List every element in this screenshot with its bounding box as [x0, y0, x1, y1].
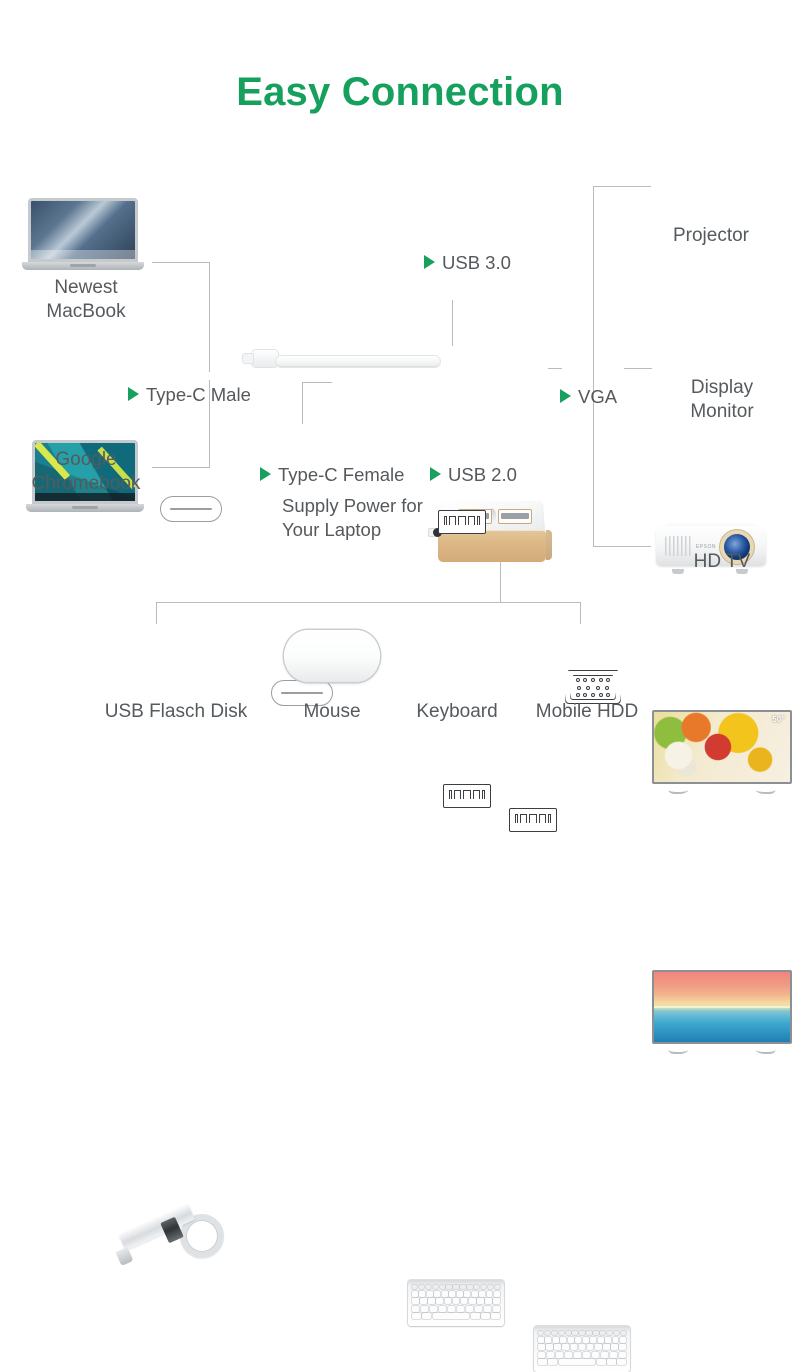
- line-bottom-drop-hdd: [580, 602, 581, 624]
- monitor-size-badge: 50": [772, 715, 785, 724]
- line-macbook-h: [152, 262, 210, 263]
- type-c-male-tag: Type-C Male: [128, 384, 251, 406]
- hub-cable: [276, 356, 440, 367]
- keyboard-label: Keyboard: [398, 700, 516, 724]
- tv-panel: [652, 970, 792, 1044]
- bullet-triangle-icon: [128, 387, 139, 401]
- line-usb30-drop: [452, 300, 453, 346]
- line-hub-to-vga: [548, 368, 562, 369]
- monitor-panel: 50": [652, 710, 792, 784]
- type-c-female-tag: Type-C Female: [260, 464, 404, 486]
- usb20-label: USB 2.0: [448, 464, 517, 486]
- projector-label: Projector: [636, 224, 786, 248]
- vga-label: VGA: [578, 386, 617, 408]
- mobile-hdd-device-icon: [534, 1326, 630, 1372]
- mouse-device-icon: [284, 630, 380, 682]
- chromebook-base: [26, 504, 144, 512]
- usb-port-icon: [443, 784, 491, 808]
- line-hdtv-h: [593, 546, 651, 547]
- usb-flash-disk-label: USB Flasch Disk: [88, 700, 264, 724]
- line-projector-h: [593, 186, 651, 187]
- usb30-tag: USB 3.0: [424, 252, 511, 274]
- usb-port-icon: [509, 808, 557, 832]
- line-left-bus-top: [209, 262, 210, 372]
- line-bottom-drop-flash: [156, 602, 157, 624]
- line-monitor-h: [624, 368, 652, 369]
- type-c-female-note: Supply Power for Your Laptop: [282, 494, 482, 542]
- page-title: Easy Connection: [0, 70, 800, 115]
- bullet-triangle-icon: [430, 467, 441, 481]
- infographic-canvas: Easy Connection Newest MacBook Google Ch…: [0, 0, 800, 800]
- chromebook-label: Google Chromebook: [2, 448, 170, 496]
- flash-connector: [116, 1247, 134, 1266]
- vga-port-icon: [565, 670, 621, 704]
- macbook-screen: [28, 198, 138, 262]
- usb30-label: USB 3.0: [442, 252, 511, 274]
- monitor-device-icon: 50": [652, 710, 792, 794]
- vga-tag: VGA: [560, 386, 617, 408]
- type-c-connector-icon: [160, 496, 222, 522]
- usb-flash-drive-icon: [118, 1210, 230, 1272]
- line-right-bus: [593, 186, 594, 546]
- monitor-label: Display Monitor: [644, 376, 800, 424]
- bullet-triangle-icon: [260, 467, 271, 481]
- cable-plug-typec: [252, 350, 278, 367]
- hub-side: [546, 530, 552, 560]
- hub-usb-port-2: [498, 509, 532, 524]
- bullet-triangle-icon: [560, 389, 571, 403]
- macbook-laptop-icon: [22, 198, 144, 270]
- monitor-stand: [652, 784, 792, 794]
- tv-device-icon: [652, 970, 792, 1054]
- macbook-label: Newest MacBook: [6, 276, 166, 324]
- mobile-hdd-label: Mobile HDD: [520, 700, 654, 724]
- type-c-female-label: Type-C Female: [278, 464, 404, 486]
- tv-stand: [652, 1044, 792, 1054]
- keyboard-device-icon: [408, 1280, 504, 1326]
- line-typec-female-drop: [302, 382, 303, 424]
- mouse-label: Mouse: [272, 700, 392, 724]
- macbook-base: [22, 262, 144, 270]
- bullet-triangle-icon: [424, 255, 435, 269]
- type-c-male-label: Type-C Male: [146, 384, 251, 406]
- hdtv-label: HD TV: [648, 550, 796, 574]
- line-bottom-bus: [156, 602, 580, 603]
- line-typec-female-h: [302, 382, 332, 383]
- usb20-tag: USB 2.0: [430, 464, 517, 486]
